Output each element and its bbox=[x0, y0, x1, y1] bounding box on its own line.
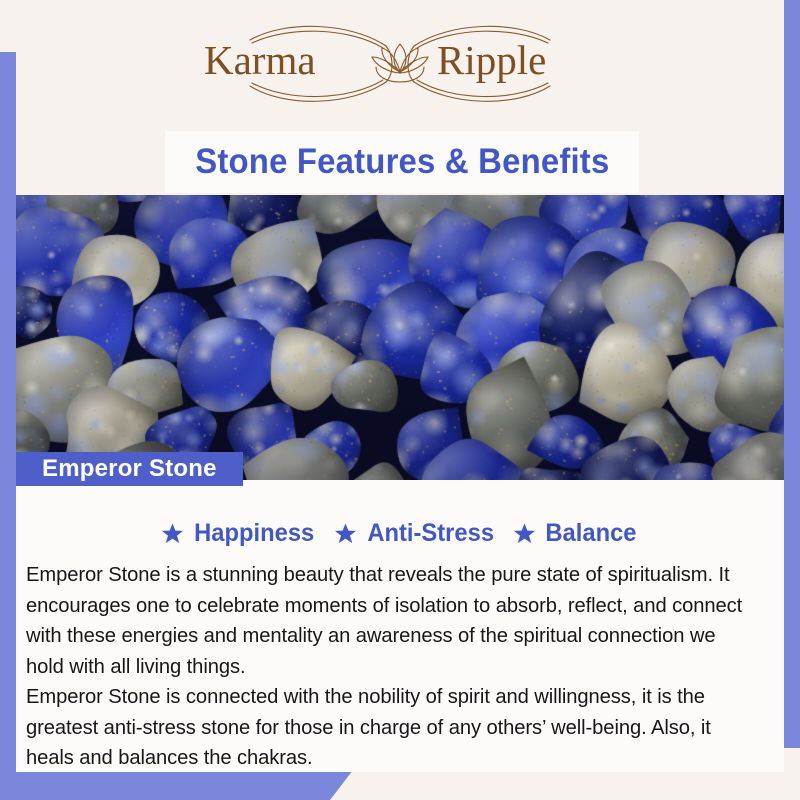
benefit-label: Anti-Stress bbox=[367, 519, 494, 548]
section-title-band: Stone Features & Benefits bbox=[165, 131, 639, 193]
benefit-label: Happiness bbox=[194, 519, 314, 548]
benefit-label: Balance bbox=[545, 519, 636, 548]
brand-logo-svg: Karma Ripple bbox=[190, 14, 610, 114]
star-icon bbox=[334, 522, 357, 545]
brand-name-left: Karma bbox=[204, 37, 316, 83]
stone-photo-canvas bbox=[16, 195, 784, 480]
description-paragraph-2: Emperor Stone is connected with the nobi… bbox=[26, 682, 755, 772]
page-title: Stone Features & Benefits bbox=[195, 142, 609, 182]
star-icon bbox=[513, 522, 536, 545]
benefits-row: Happiness Anti-Stress Balance bbox=[16, 507, 784, 559]
poster: Karma Ripple Stone Features & Benefits E… bbox=[0, 0, 800, 800]
benefit-item: Anti-Stress bbox=[334, 519, 497, 548]
benefit-item: Balance bbox=[513, 519, 639, 548]
description-paragraph-1: Emperor Stone is a stunning beauty that … bbox=[26, 560, 755, 682]
star-icon bbox=[161, 522, 184, 545]
brand-logo: Karma Ripple bbox=[190, 14, 610, 114]
description-panel: Happiness Anti-Stress Balance Emperor S bbox=[16, 480, 784, 772]
poster-card: Karma Ripple Stone Features & Benefits E… bbox=[16, 0, 784, 772]
benefit-item: Happiness bbox=[161, 519, 317, 548]
stone-name-badge: Emperor Stone bbox=[16, 452, 243, 486]
stone-photo bbox=[16, 195, 784, 480]
description-text: Emperor Stone is a stunning beauty that … bbox=[26, 560, 755, 772]
brand-header: Karma Ripple bbox=[16, 0, 784, 130]
brand-name-right: Ripple bbox=[437, 37, 546, 83]
stone-name-label: Emperor Stone bbox=[42, 455, 217, 483]
